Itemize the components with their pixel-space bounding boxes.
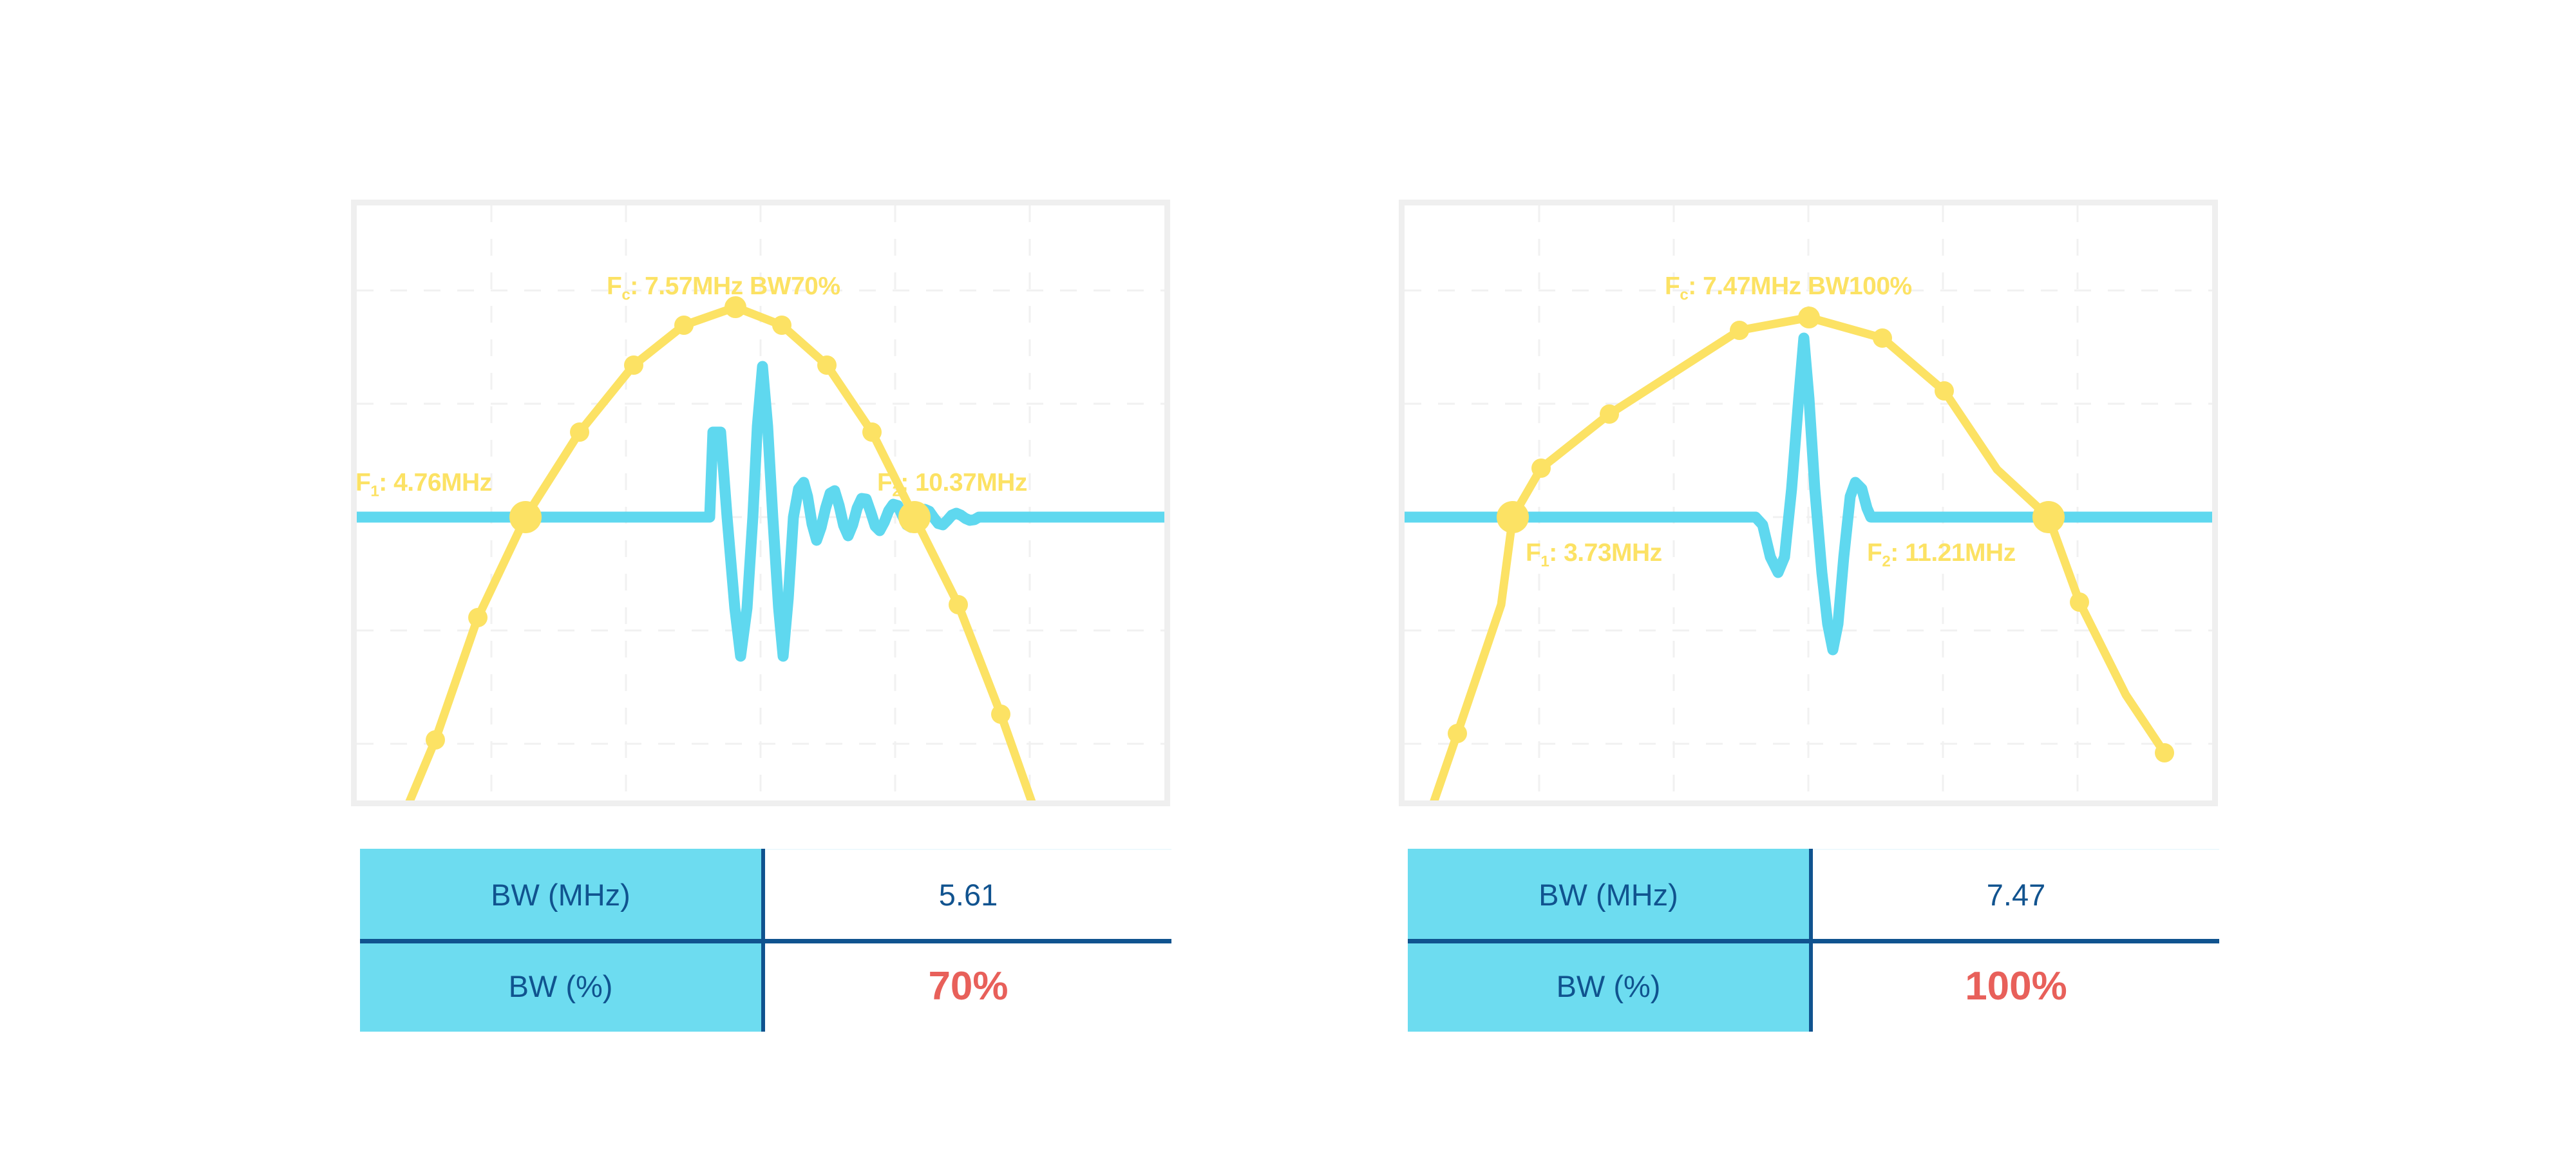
fc-subscript: c — [1680, 286, 1688, 303]
f2-prefix: F — [1867, 539, 1882, 567]
label-upper-cutoff-left: F2: 10.37MHz — [877, 469, 1027, 500]
table-row-label-bw-mhz: BW (MHz) — [360, 849, 765, 940]
bandwidth-table-left: BW (MHz) 5.61 BW (%) 70% — [360, 849, 1171, 1032]
f1-text: : 3.73MHz — [1549, 539, 1662, 567]
f2-text: : 10.37MHz — [900, 469, 1027, 497]
table-row: BW (%) 70% — [360, 940, 1171, 1032]
table-row-value-bw-mhz: 7.47 — [1813, 849, 2219, 940]
comparison-stage: Fc: 7.57MHz BW70% F1: 4.76MHz F2: 10.37M… — [0, 0, 2576, 1154]
label-lower-cutoff-right: F1: 3.73MHz — [1526, 539, 1662, 571]
table-row-value-bw-percent: 70% — [765, 940, 1171, 1032]
f1-marker-right — [1497, 501, 1529, 533]
bandwidth-table-right: BW (MHz) 7.47 BW (%) 100% — [1408, 849, 2219, 1032]
table-row-divider — [360, 939, 1171, 943]
f2-marker-left — [898, 501, 931, 533]
bw-percent-label: BW (%) — [1557, 969, 1661, 1004]
f2-marker-right — [2032, 501, 2065, 533]
f1-subscript: 1 — [1540, 553, 1549, 570]
bw-mhz-label: BW (MHz) — [491, 877, 630, 913]
table-row-value-bw-mhz: 5.61 — [765, 849, 1171, 940]
bw-percent-value: 100% — [1965, 963, 2067, 1009]
fc-prefix: F — [1665, 272, 1680, 300]
table-row-label-bw-percent: BW (%) — [1408, 940, 1813, 1032]
bw-mhz-label: BW (MHz) — [1539, 877, 1678, 913]
f1-subscript: 1 — [370, 482, 379, 500]
label-center-frequency-right: Fc: 7.47MHz BW100% — [1665, 272, 1912, 304]
f2-prefix: F — [877, 469, 892, 497]
table-row-divider — [1408, 939, 2219, 943]
bw-percent-value: 70% — [928, 963, 1008, 1009]
f1-prefix: F — [355, 469, 370, 497]
chart-frame-left: Fc: 7.57MHz BW70% F1: 4.76MHz F2: 10.37M… — [351, 200, 1170, 806]
label-center-frequency-left: Fc: 7.57MHz BW70% — [607, 272, 840, 304]
fc-text: : 7.57MHz BW70% — [630, 272, 840, 300]
f2-text: : 11.21MHz — [1890, 539, 2015, 567]
bw-percent-label: BW (%) — [509, 969, 613, 1004]
table-row: BW (MHz) 5.61 — [360, 849, 1171, 940]
fc-prefix: F — [607, 272, 621, 300]
table-row-value-bw-percent: 100% — [1813, 940, 2219, 1032]
table-row-label-bw-mhz: BW (MHz) — [1408, 849, 1813, 940]
panel-left: Fc: 7.57MHz BW70% F1: 4.76MHz F2: 10.37M… — [351, 0, 1182, 1154]
f1-text: : 4.76MHz — [379, 469, 491, 497]
f2-subscript: 2 — [1882, 553, 1890, 570]
table-row-label-bw-percent: BW (%) — [360, 940, 765, 1032]
table-row: BW (MHz) 7.47 — [1408, 849, 2219, 940]
bw-mhz-value: 7.47 — [1987, 877, 2045, 913]
fc-subscript: c — [621, 286, 630, 303]
chart-frame-right: Fc: 7.47MHz BW100% F1: 3.73MHz F2: 11.21… — [1399, 200, 2218, 806]
bw-mhz-value: 5.61 — [939, 877, 998, 913]
label-lower-cutoff-left: F1: 4.76MHz — [355, 469, 492, 500]
f2-subscript: 2 — [892, 482, 900, 500]
fc-text: : 7.47MHz BW100% — [1688, 272, 1911, 300]
panel-right: Fc: 7.47MHz BW100% F1: 3.73MHz F2: 11.21… — [1399, 0, 2230, 1154]
f1-prefix: F — [1526, 539, 1540, 567]
f1-marker-left — [509, 501, 542, 533]
label-upper-cutoff-right: F2: 11.21MHz — [1867, 539, 2016, 571]
table-row: BW (%) 100% — [1408, 940, 2219, 1032]
spectrum-curve-left — [392, 307, 1039, 800]
